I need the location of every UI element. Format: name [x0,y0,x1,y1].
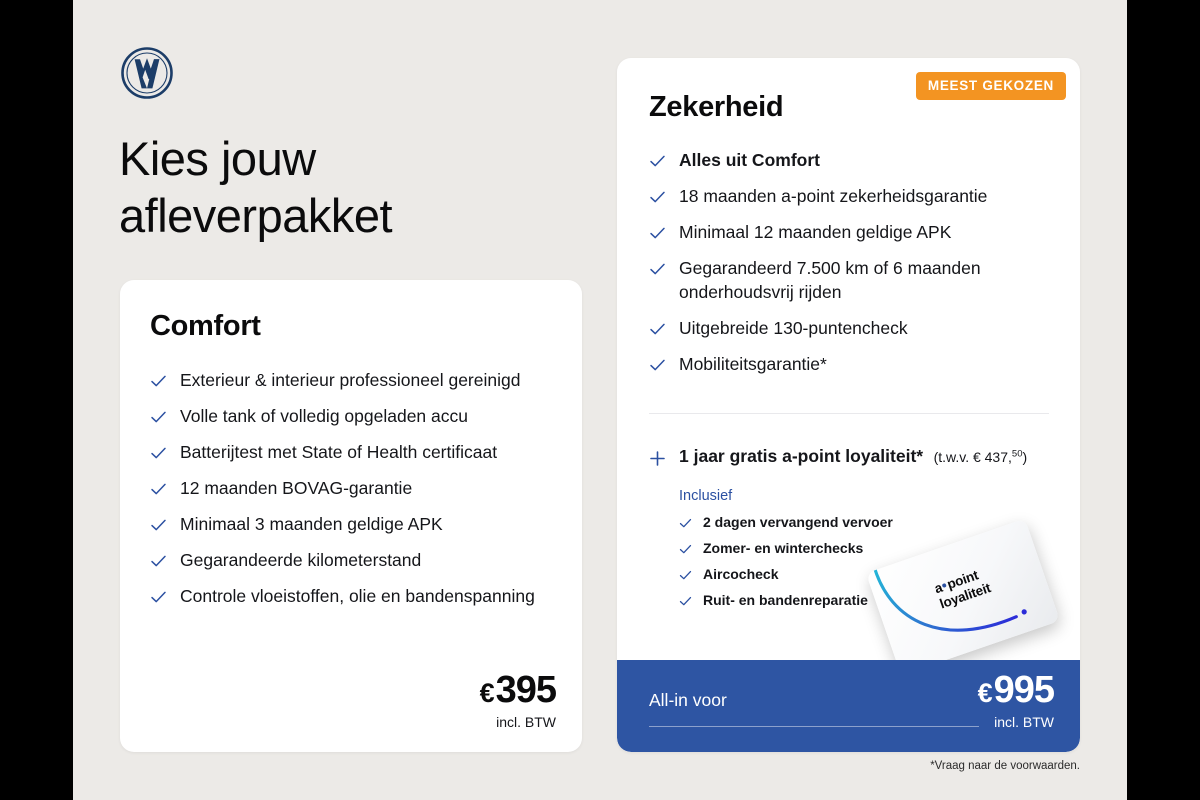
poster-canvas: Kies jouw afleverpakket Comfort Exterieu… [0,0,1200,800]
check-icon [150,480,167,497]
vw-logo-icon [120,46,174,100]
loyalty-title: 1 jaar gratis a-point loyaliteit* [679,446,923,467]
list-item: Mobiliteitsgarantie* [649,352,1057,376]
list-item: 12 maanden BOVAG-garantie [150,476,550,500]
footnote: *Vraag naar de voorwaarden. [930,760,1080,772]
list-item: Gegarandeerd 7.500 km of 6 maanden onder… [649,256,1057,304]
currency-symbol: € [480,678,494,708]
zekerheid-price-note: incl. BTW [978,714,1054,730]
list-item-label: Minimaal 12 maanden geldige APK [679,222,951,242]
loyalty-offer-row: 1 jaar gratis a-point loyaliteit* (t.w.v… [649,446,1054,467]
list-item-label: Zomer- en winterchecks [703,540,863,556]
list-item: Minimaal 12 maanden geldige APK [649,220,1057,244]
zekerheid-package-card[interactable]: MEEST GEKOZEN Zekerheid Alles uit Comfor… [617,58,1080,752]
loyalty-value-prefix: (t.w.v. € 437, [934,449,1012,465]
check-icon [649,152,666,169]
check-icon [649,356,666,373]
price-amount: 995 [994,669,1054,711]
footer-rule [649,726,979,727]
list-item-label: Gegarandeerd 7.500 km of 6 maanden onder… [679,258,981,302]
list-item-label: Gegarandeerde kilometerstand [180,550,421,570]
loyalty-value-cents: 50 [1012,448,1023,459]
list-item: Alles uit Comfort [649,148,1057,172]
all-in-label: All-in voor [649,690,727,711]
comfort-price: €395 [480,670,556,713]
page-title-line-1: Kies jouw [119,132,316,185]
check-icon [679,594,692,607]
list-item-label: Exterieur & interieur professioneel gere… [180,370,520,390]
zekerheid-card-title: Zekerheid [649,91,783,124]
check-icon [679,542,692,555]
check-icon [679,516,692,529]
list-item-label: Controle vloeistoffen, olie en bandenspa… [180,586,535,606]
list-item: Gegarandeerde kilometerstand [150,548,550,572]
check-icon [150,552,167,569]
comfort-card-title: Comfort [150,310,261,343]
list-item-label: Volle tank of volledig opgeladen accu [180,406,468,426]
inclusief-label: Inclusief [679,488,732,504]
check-icon [150,372,167,389]
list-item-label: Minimaal 3 maanden geldige APK [180,514,443,534]
check-icon [649,320,666,337]
section-divider [649,413,1049,414]
currency-symbol: € [978,678,992,708]
content-panel: Kies jouw afleverpakket Comfort Exterieu… [73,0,1127,800]
list-item-label: Ruit- en bandenreparatie [703,592,868,608]
list-item: Uitgebreide 130-puntencheck [649,316,1057,340]
list-item: 2 dagen vervangend vervoer [679,513,979,531]
list-item: Volle tank of volledig opgeladen accu [150,404,550,428]
zekerheid-feature-list: Alles uit Comfort 18 maanden a-point zek… [649,148,1057,388]
comfort-price-note: incl. BTW [480,714,556,730]
comfort-price-block: €395 incl. BTW [480,670,556,730]
price-amount: 395 [496,669,556,711]
check-icon [649,188,666,205]
check-icon [150,516,167,533]
list-item-label: Batterijtest met State of Health certifi… [180,442,497,462]
list-item: 18 maanden a-point zekerheidsgarantie [649,184,1057,208]
list-item: Minimaal 3 maanden geldige APK [150,512,550,536]
check-icon [679,568,692,581]
list-item: Batterijtest met State of Health certifi… [150,440,550,464]
zekerheid-price-block: €995 incl. BTW [978,670,1054,730]
plus-icon [649,450,666,467]
list-item: Exterieur & interieur professioneel gere… [150,368,550,392]
check-icon [150,588,167,605]
page-title-line-2: afleverpakket [119,187,579,244]
check-icon [649,224,666,241]
list-item: Controle vloeistoffen, olie en bandenspa… [150,584,550,608]
list-item-label: 12 maanden BOVAG-garantie [180,478,412,498]
loyalty-value: (t.w.v. € 437,50) [934,449,1028,465]
list-item-label: Alles uit Comfort [679,150,820,170]
zekerheid-price: €995 [978,670,1054,713]
list-item-label: 18 maanden a-point zekerheidsgarantie [679,186,987,206]
comfort-package-card[interactable]: Comfort Exterieur & interieur profession… [120,280,582,752]
list-item-label: Aircocheck [703,566,778,582]
loyalty-value-suffix: ) [1022,449,1027,465]
status-badge: MEEST GEKOZEN [916,72,1066,100]
comfort-feature-list: Exterieur & interieur professioneel gere… [150,368,550,620]
check-icon [150,408,167,425]
zekerheid-footer: All-in voor €995 incl. BTW [617,660,1080,752]
list-item-label: Uitgebreide 130-puntencheck [679,318,908,338]
page-title: Kies jouw afleverpakket [119,130,579,244]
list-item-label: 2 dagen vervangend vervoer [703,514,893,530]
check-icon [649,260,666,277]
list-item-label: Mobiliteitsgarantie* [679,354,827,374]
check-icon [150,444,167,461]
